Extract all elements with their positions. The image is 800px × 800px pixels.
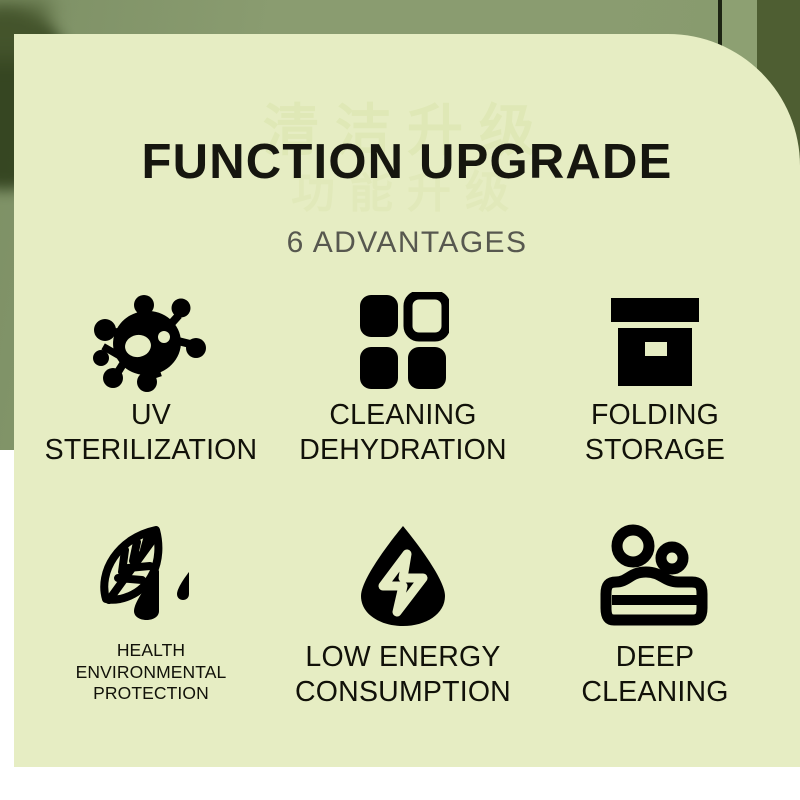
page-title: FUNCTION UPGRADE: [14, 134, 800, 190]
page-subtitle: 6 ADVANTAGES: [14, 226, 800, 260]
feature-item-health-environmental-protection[interactable]: HEALTH ENVIRONMENTAL PROTECTION: [20, 516, 282, 752]
feature-label: HEALTH ENVIRONMENTAL PROTECTION: [20, 640, 282, 705]
feature-grid: UV STERILIZATION CLEANING DEHYDRATION: [14, 286, 800, 752]
leaf-droplet-icon: [92, 516, 210, 636]
feature-label: LOW ENERGY CONSUMPTION: [295, 640, 511, 710]
feature-label: CLEANING DEHYDRATION: [299, 398, 507, 468]
feature-row: UV STERILIZATION CLEANING DEHYDRATION: [14, 286, 800, 516]
feature-label: DEEP CLEANING: [581, 640, 728, 710]
feature-label: FOLDING STORAGE: [585, 398, 725, 468]
soap-bubbles-icon: [600, 516, 710, 636]
droplet-bolt-icon: [357, 516, 449, 636]
feature-item-low-energy-consumption[interactable]: LOW ENERGY CONSUMPTION: [272, 516, 534, 752]
four-squares-icon: [357, 286, 449, 398]
feature-label: UV STERILIZATION: [45, 398, 258, 468]
feature-item-cleaning-dehydration[interactable]: CLEANING DEHYDRATION: [272, 286, 534, 516]
feature-item-deep-cleaning[interactable]: DEEP CLEANING: [524, 516, 786, 752]
feature-item-uv-sterilization[interactable]: UV STERILIZATION: [20, 286, 282, 516]
storage-box-icon: [607, 286, 703, 398]
feature-row: HEALTH ENVIRONMENTAL PROTECTION LOW ENER…: [14, 516, 800, 752]
feature-item-folding-storage[interactable]: FOLDING STORAGE: [524, 286, 786, 516]
virus-icon: [92, 286, 210, 398]
content-card: 清洁升级 功能升级 FUNCTION UPGRADE 6 ADVANTAGES: [14, 34, 800, 767]
poster-root: 清洁升级 功能升级 FUNCTION UPGRADE 6 ADVANTAGES: [0, 0, 800, 800]
